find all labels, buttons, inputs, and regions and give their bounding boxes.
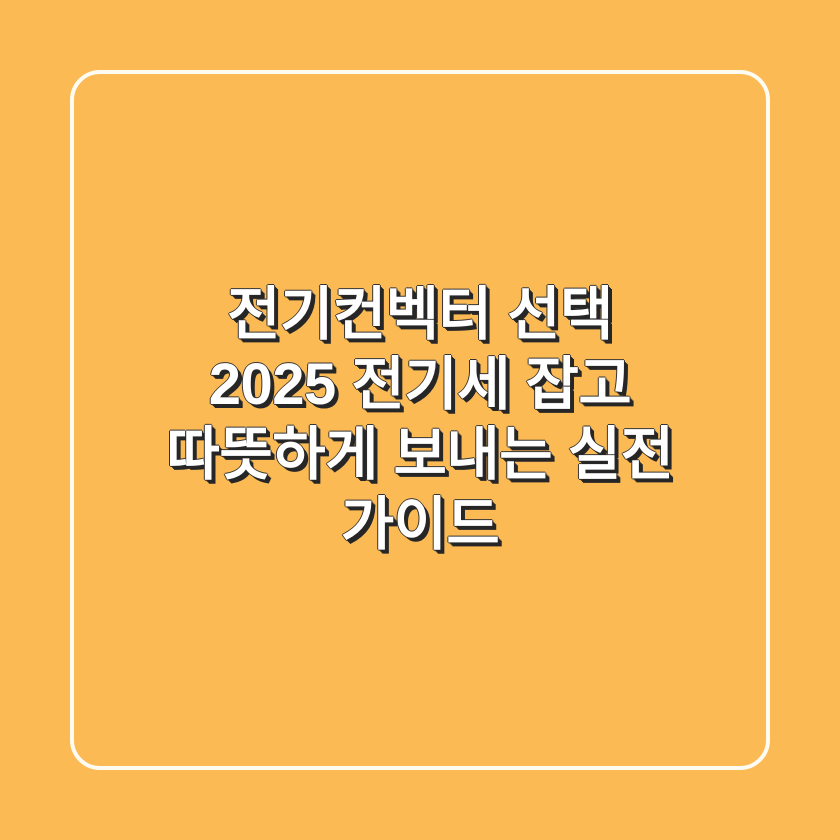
headline-line-2: 2025 전기세 잡고 — [78, 350, 762, 420]
headline-line-1: 전기컨벡터 선택 — [78, 280, 762, 350]
headline-block: 전기컨벡터 선택 2025 전기세 잡고 따뜻하게 보내는 실전 가이드 — [0, 0, 840, 840]
headline-line-3: 따뜻하게 보내는 실전 — [78, 420, 762, 490]
headline-line-4: 가이드 — [78, 490, 762, 560]
poster-canvas: 전기컨벡터 선택 2025 전기세 잡고 따뜻하게 보내는 실전 가이드 — [0, 0, 840, 840]
